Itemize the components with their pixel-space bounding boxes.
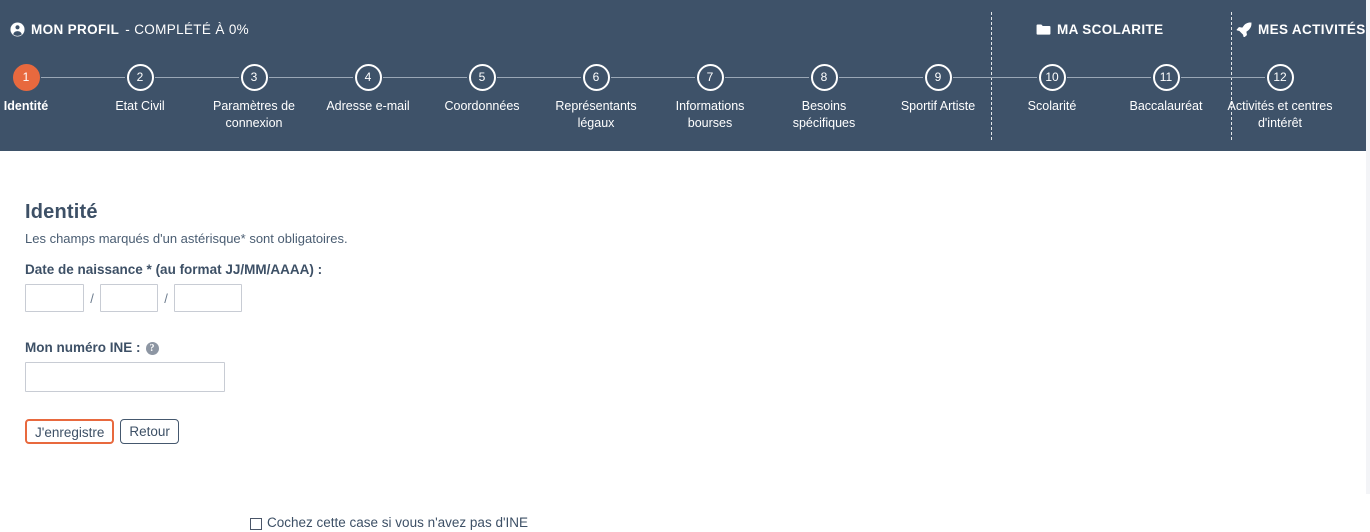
step-number-badge: 5 <box>469 64 496 91</box>
stepper-item-4[interactable]: 4Adresse e-mail <box>311 58 425 115</box>
step-label: Informations bourses <box>653 98 767 132</box>
step-number-badge: 7 <box>697 64 724 91</box>
ine-label: Mon numéro INE : <box>25 340 141 355</box>
step-number-badge: 2 <box>127 64 154 91</box>
save-button[interactable]: J'enregistre <box>25 419 114 444</box>
step-number-badge: 1 <box>13 64 40 91</box>
dob-separator-2: / <box>158 291 174 306</box>
header-sections-bar: MON PROFIL - COMPLÉTÉ À 0% MA SCOLARITE <box>0 0 1366 58</box>
header-section-mes-activites[interactable]: MES ACTIVITÉS <box>1236 22 1366 37</box>
header-section-mon-profil[interactable]: MON PROFIL - COMPLÉTÉ À 0% <box>10 22 249 37</box>
header-section-suffix: - COMPLÉTÉ À 0% <box>125 22 249 37</box>
step-number-badge: 9 <box>925 64 952 91</box>
step-connector <box>953 77 1037 78</box>
step-connector <box>497 77 581 78</box>
step-connector <box>611 77 695 78</box>
step-connector <box>839 77 923 78</box>
stepper-item-1[interactable]: 1Identité <box>0 58 83 115</box>
step-connector <box>383 77 467 78</box>
progress-stepper: 1Identité2Etat Civil3Paramètres de conne… <box>0 58 1366 151</box>
step-label: Activités et centres d'intérêt <box>1223 98 1337 132</box>
step-number-badge: 8 <box>811 64 838 91</box>
page-root: MON PROFIL - COMPLÉTÉ À 0% MA SCOLARITE <box>0 0 1370 494</box>
step-number-badge: 4 <box>355 64 382 91</box>
stepper-item-9[interactable]: 9Sportif Artiste <box>881 58 995 115</box>
form-actions: J'enregistre Retour <box>25 419 179 444</box>
date-of-birth-group: / / <box>25 284 242 312</box>
step-connector <box>725 77 809 78</box>
dob-year-input[interactable] <box>174 284 242 312</box>
user-circle-icon <box>10 22 25 37</box>
step-label: Paramètres de connexion <box>197 98 311 132</box>
no-ine-checkbox-group[interactable]: Cochez cette case si vous n'avez pas d'I… <box>250 514 528 532</box>
page-right-gutter <box>1366 0 1370 494</box>
step-number-badge: 11 <box>1153 64 1180 91</box>
form-content: Identité Les champs marqués d'un astéris… <box>0 151 1366 494</box>
stepper-item-8[interactable]: 8Besoins spécifiques <box>767 58 881 132</box>
header-section-ma-scolarite[interactable]: MA SCOLARITE <box>1036 22 1163 37</box>
step-label: Identité <box>0 98 83 115</box>
back-button[interactable]: Retour <box>120 419 179 444</box>
step-label: Sportif Artiste <box>881 98 995 115</box>
stepper-item-7[interactable]: 7Informations bourses <box>653 58 767 132</box>
ine-input-group <box>25 362 225 392</box>
step-label: Coordonnées <box>425 98 539 115</box>
step-label: Etat Civil <box>83 98 197 115</box>
step-number-badge: 6 <box>583 64 610 91</box>
step-label: Baccalauréat <box>1109 98 1223 115</box>
header-section-label: MA SCOLARITE <box>1057 22 1163 37</box>
step-label: Adresse e-mail <box>311 98 425 115</box>
app-header: MON PROFIL - COMPLÉTÉ À 0% MA SCOLARITE <box>0 0 1366 151</box>
header-section-label: MON PROFIL <box>31 22 119 37</box>
stepper-item-3[interactable]: 3Paramètres de connexion <box>197 58 311 132</box>
step-number-badge: 10 <box>1039 64 1066 91</box>
required-fields-hint: Les champs marqués d'un astérisque* sont… <box>25 231 348 246</box>
step-connector <box>269 77 353 78</box>
folder-icon <box>1036 23 1051 36</box>
ine-input[interactable] <box>25 362 225 392</box>
stepper-item-6[interactable]: 6Représentants légaux <box>539 58 653 132</box>
help-icon[interactable]: ? <box>146 342 159 355</box>
step-connector <box>41 77 125 78</box>
stepper-item-5[interactable]: 5Coordonnées <box>425 58 539 115</box>
ine-label-group: Mon numéro INE : ? <box>25 340 159 355</box>
stepper-item-12[interactable]: 12Activités et centres d'intérêt <box>1223 58 1337 132</box>
step-number-badge: 3 <box>241 64 268 91</box>
step-connector <box>155 77 239 78</box>
step-label: Scolarité <box>995 98 1109 115</box>
page-title: Identité <box>25 201 98 224</box>
dob-separator-1: / <box>84 291 100 306</box>
step-connector <box>1067 77 1151 78</box>
no-ine-checkbox[interactable] <box>250 518 262 530</box>
date-of-birth-label: Date de naissance * (au format JJ/MM/AAA… <box>25 262 322 277</box>
step-label: Représentants légaux <box>539 98 653 132</box>
step-number-badge: 12 <box>1267 64 1294 91</box>
step-connector <box>1181 77 1265 78</box>
rocket-icon <box>1236 22 1252 37</box>
step-label: Besoins spécifiques <box>767 98 881 132</box>
stepper-item-10[interactable]: 10Scolarité <box>995 58 1109 115</box>
dob-month-input[interactable] <box>100 284 158 312</box>
header-section-label: MES ACTIVITÉS <box>1258 22 1366 37</box>
dob-day-input[interactable] <box>25 284 84 312</box>
stepper-item-11[interactable]: 11Baccalauréat <box>1109 58 1223 115</box>
no-ine-checkbox-label: Cochez cette case si vous n'avez pas d'I… <box>267 514 528 532</box>
stepper-item-2[interactable]: 2Etat Civil <box>83 58 197 115</box>
